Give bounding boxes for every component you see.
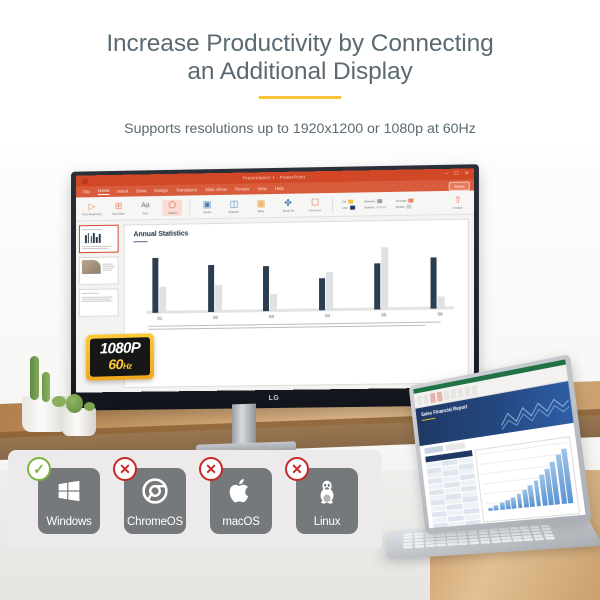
os-tile-macos[interactable]: ✕ macOS xyxy=(210,468,272,534)
format-label: Line xyxy=(342,205,348,209)
format-rotate[interactable]: Rotate xyxy=(396,204,414,208)
bar-primary xyxy=(208,265,214,312)
x-label: 04 xyxy=(319,313,336,318)
new-slide-icon: ⊞ xyxy=(115,201,122,210)
bar-secondary xyxy=(159,287,166,313)
os-tile-windows[interactable]: ✓ Windows xyxy=(38,468,100,534)
x-label: 03 xyxy=(263,314,280,319)
tab-review[interactable]: Review xyxy=(235,186,249,191)
smartart-icon: ✤ xyxy=(284,198,292,207)
ribbon-comment[interactable]: ☐ Comment xyxy=(305,198,325,212)
bar-group-02 xyxy=(208,250,225,312)
x-label: 02 xyxy=(207,315,224,320)
format-opacity[interactable]: Opacity xyxy=(364,205,387,209)
ribbon-label: Text xyxy=(143,211,148,215)
os-label: macOS xyxy=(222,516,259,528)
plant-pot-small xyxy=(62,408,96,436)
laptop-lid: Sales Financial Report xyxy=(409,354,592,534)
page-title-line2: an Additional Display xyxy=(0,58,600,86)
bar-group-06 xyxy=(431,246,448,309)
tab-draw[interactable]: Draw xyxy=(136,188,146,193)
chart-bars xyxy=(148,246,451,313)
format-label: Rotate xyxy=(396,204,405,208)
badge-refresh: 60Hz xyxy=(108,356,131,374)
dashboard-tab-navigation[interactable] xyxy=(424,446,443,454)
laptop: Sales Financial Report xyxy=(398,370,598,570)
ribbon-icon[interactable] xyxy=(450,388,456,399)
bar-primary xyxy=(375,263,381,309)
ribbon-label: Media xyxy=(203,210,211,214)
active-slide[interactable]: Annual Statistics xyxy=(124,219,469,388)
cactus-tall xyxy=(30,356,39,400)
shadow-swatch[interactable] xyxy=(377,199,382,203)
poster-stage: Increase Productivity by Connecting an A… xyxy=(0,0,600,600)
resolution-badge-inner: 1080P 60Hz xyxy=(90,337,150,377)
format-label: Shadow xyxy=(364,199,375,203)
badge-resolution: 1080P xyxy=(100,340,140,357)
format-shadow[interactable]: Shadow xyxy=(364,199,387,203)
ribbon-from-beginning[interactable]: ▷ From Beginning xyxy=(82,202,102,216)
tab-home[interactable]: Home xyxy=(98,188,110,195)
cactus-round xyxy=(66,394,83,413)
os-label: ChromeOS xyxy=(127,516,183,528)
bar-secondary xyxy=(326,272,333,311)
os-compatibility-panel: ✓ Windows ✕ xyxy=(8,450,382,550)
chart-bars xyxy=(482,448,573,511)
slide-title: Annual Statistics xyxy=(133,226,458,238)
ribbon-label: Table xyxy=(258,209,265,213)
windows-icon xyxy=(38,478,100,509)
ribbon-new-slide[interactable]: ⊞ New Slide xyxy=(109,201,129,215)
opacity-slider[interactable] xyxy=(377,206,387,208)
ribbon-icon[interactable] xyxy=(436,391,442,401)
ribbon-icon[interactable] xyxy=(443,390,449,400)
text-icon: Aa xyxy=(141,201,150,210)
slide-thumbnail-3[interactable] xyxy=(79,288,119,316)
x-label: 05 xyxy=(375,312,392,317)
ribbon-icon[interactable] xyxy=(471,384,478,395)
bar-primary xyxy=(263,266,269,311)
tab-slide-show[interactable]: Slide Show xyxy=(205,187,227,192)
dashboard-tab-summary[interactable] xyxy=(445,442,465,451)
ribbon-label: Diagram xyxy=(229,209,240,213)
x-label: 06 xyxy=(432,311,449,316)
moss-clump xyxy=(84,402,95,411)
format-label: Fill xyxy=(342,199,346,203)
os-label: Linux xyxy=(314,516,341,528)
ribbon-divider xyxy=(332,196,333,212)
os-label: Windows xyxy=(46,516,91,528)
slide-canvas[interactable]: Annual Statistics xyxy=(122,215,474,392)
ribbon-label: Shapes xyxy=(168,210,177,214)
media-icon: ▣ xyxy=(203,200,211,209)
ribbon-icon[interactable] xyxy=(457,387,463,398)
dashboard-title-underline xyxy=(422,418,436,421)
arrange-swatch[interactable] xyxy=(409,198,414,202)
cactus-arm xyxy=(42,372,50,402)
bar-primary xyxy=(431,258,437,309)
bar-secondary xyxy=(270,294,277,311)
effect-controls[interactable]: Shadow Opacity xyxy=(364,199,387,209)
thumbnail-image xyxy=(82,260,101,274)
ribbon-shapes[interactable]: ⬠ Shapes xyxy=(162,199,182,215)
arrange-controls[interactable]: Arrange Rotate xyxy=(396,198,414,208)
chrome-icon xyxy=(124,478,186,509)
ribbon-icon[interactable] xyxy=(464,386,471,397)
window-controls[interactable]: – ☐ ✕ xyxy=(445,170,469,176)
publish-button[interactable]: ⇧ Publish xyxy=(448,195,468,209)
page-title: Increase Productivity by Connecting an A… xyxy=(0,30,600,86)
annual-statistics-chart xyxy=(148,246,451,313)
os-tile-row: ✓ Windows ✕ xyxy=(38,468,358,534)
tab-transitions[interactable]: Transitions xyxy=(176,187,197,192)
tab-help[interactable]: Help xyxy=(275,186,284,191)
slide-title-underline xyxy=(133,241,147,242)
rotate-swatch[interactable] xyxy=(407,204,412,208)
ribbon-smart-art[interactable]: ✤ Smart Art xyxy=(278,198,298,212)
ribbon-diagram[interactable]: ◫ Diagram xyxy=(224,199,244,213)
brand-logo: LG xyxy=(269,394,280,401)
save-icon[interactable] xyxy=(82,178,88,184)
bar-group-03 xyxy=(263,249,280,311)
os-tile-chromeos[interactable]: ✕ ChromeOS xyxy=(124,468,186,534)
tab-file[interactable]: File xyxy=(83,189,90,194)
moss-clump xyxy=(52,396,66,407)
bar-primary xyxy=(152,258,158,312)
format-label: Arrange xyxy=(396,198,407,202)
os-tile-linux[interactable]: ✕ Linux xyxy=(296,468,358,534)
excel-window: Sales Financial Report xyxy=(413,359,585,528)
bar-primary xyxy=(319,278,325,310)
ribbon-divider xyxy=(189,199,190,215)
format-line[interactable]: Line xyxy=(342,205,355,209)
slide-thumbnail-1[interactable] xyxy=(79,225,119,254)
slide-thumbnail-2[interactable] xyxy=(79,257,119,286)
chart-icon: ◫ xyxy=(230,199,238,208)
table-icon: ▦ xyxy=(257,199,266,208)
publish-icon: ⇧ xyxy=(454,195,462,204)
ribbon-label: Publish xyxy=(453,205,462,209)
ribbon-text[interactable]: Aa Text xyxy=(135,201,155,215)
bar-secondary xyxy=(438,296,445,309)
ribbon-media[interactable]: ▣ Media xyxy=(197,200,217,214)
title-underline xyxy=(259,96,342,99)
apple-icon xyxy=(210,478,272,509)
page-title-line1: Increase Productivity by Connecting xyxy=(106,30,493,57)
ribbon-table[interactable]: ▦ Table xyxy=(251,199,271,213)
page-subtitle: Supports resolutions up to 1920x1200 or … xyxy=(0,121,600,137)
ribbon-icon[interactable] xyxy=(423,394,429,404)
shapes-icon: ⬠ xyxy=(168,200,176,209)
format-controls[interactable]: Fill Line xyxy=(342,199,355,209)
laptop-bar-chart xyxy=(475,436,581,522)
tab-design[interactable]: Design xyxy=(154,188,168,193)
ribbon-label: Smart Art xyxy=(282,208,294,212)
thumbnail-chart xyxy=(82,232,116,244)
comment-icon: ☐ xyxy=(311,198,319,207)
play-icon: ▷ xyxy=(88,202,95,211)
x-label: 01 xyxy=(151,316,168,321)
tab-insert[interactable]: Insert xyxy=(117,189,128,194)
format-label: Opacity xyxy=(364,205,375,209)
bar-group-05 xyxy=(375,247,392,309)
format-fill[interactable]: Fill xyxy=(342,199,355,203)
ribbon-icon[interactable] xyxy=(430,392,436,402)
window-title: Presentation 1 - PowerPoint xyxy=(243,174,306,180)
fill-swatch[interactable] xyxy=(348,199,353,203)
line-swatch[interactable] xyxy=(350,205,355,209)
bar-group-04 xyxy=(319,248,336,310)
tab-view[interactable]: View xyxy=(257,186,266,191)
ribbon-icon[interactable] xyxy=(416,395,422,405)
laptop-screen: Sales Financial Report xyxy=(413,359,585,528)
close-icon[interactable]: ✕ xyxy=(465,170,469,176)
tux-icon xyxy=(296,478,358,509)
slide-body-text xyxy=(148,321,449,331)
monitor-stand-neck xyxy=(232,404,256,449)
bar-group-01 xyxy=(152,251,169,313)
minimize-icon[interactable]: – xyxy=(445,171,448,177)
resolution-badge: 1080P 60Hz xyxy=(86,333,154,381)
ribbon-label: From Beginning xyxy=(82,212,101,216)
format-arrange[interactable]: Arrange xyxy=(396,198,414,202)
ribbon-label: New Slide xyxy=(112,211,124,215)
share-button[interactable]: Share xyxy=(449,181,470,190)
bar-secondary xyxy=(382,247,389,309)
maximize-icon[interactable]: ☐ xyxy=(454,171,459,177)
bar-secondary xyxy=(215,285,222,312)
ribbon-label: Comment xyxy=(309,208,321,212)
data-table[interactable] xyxy=(425,450,481,528)
